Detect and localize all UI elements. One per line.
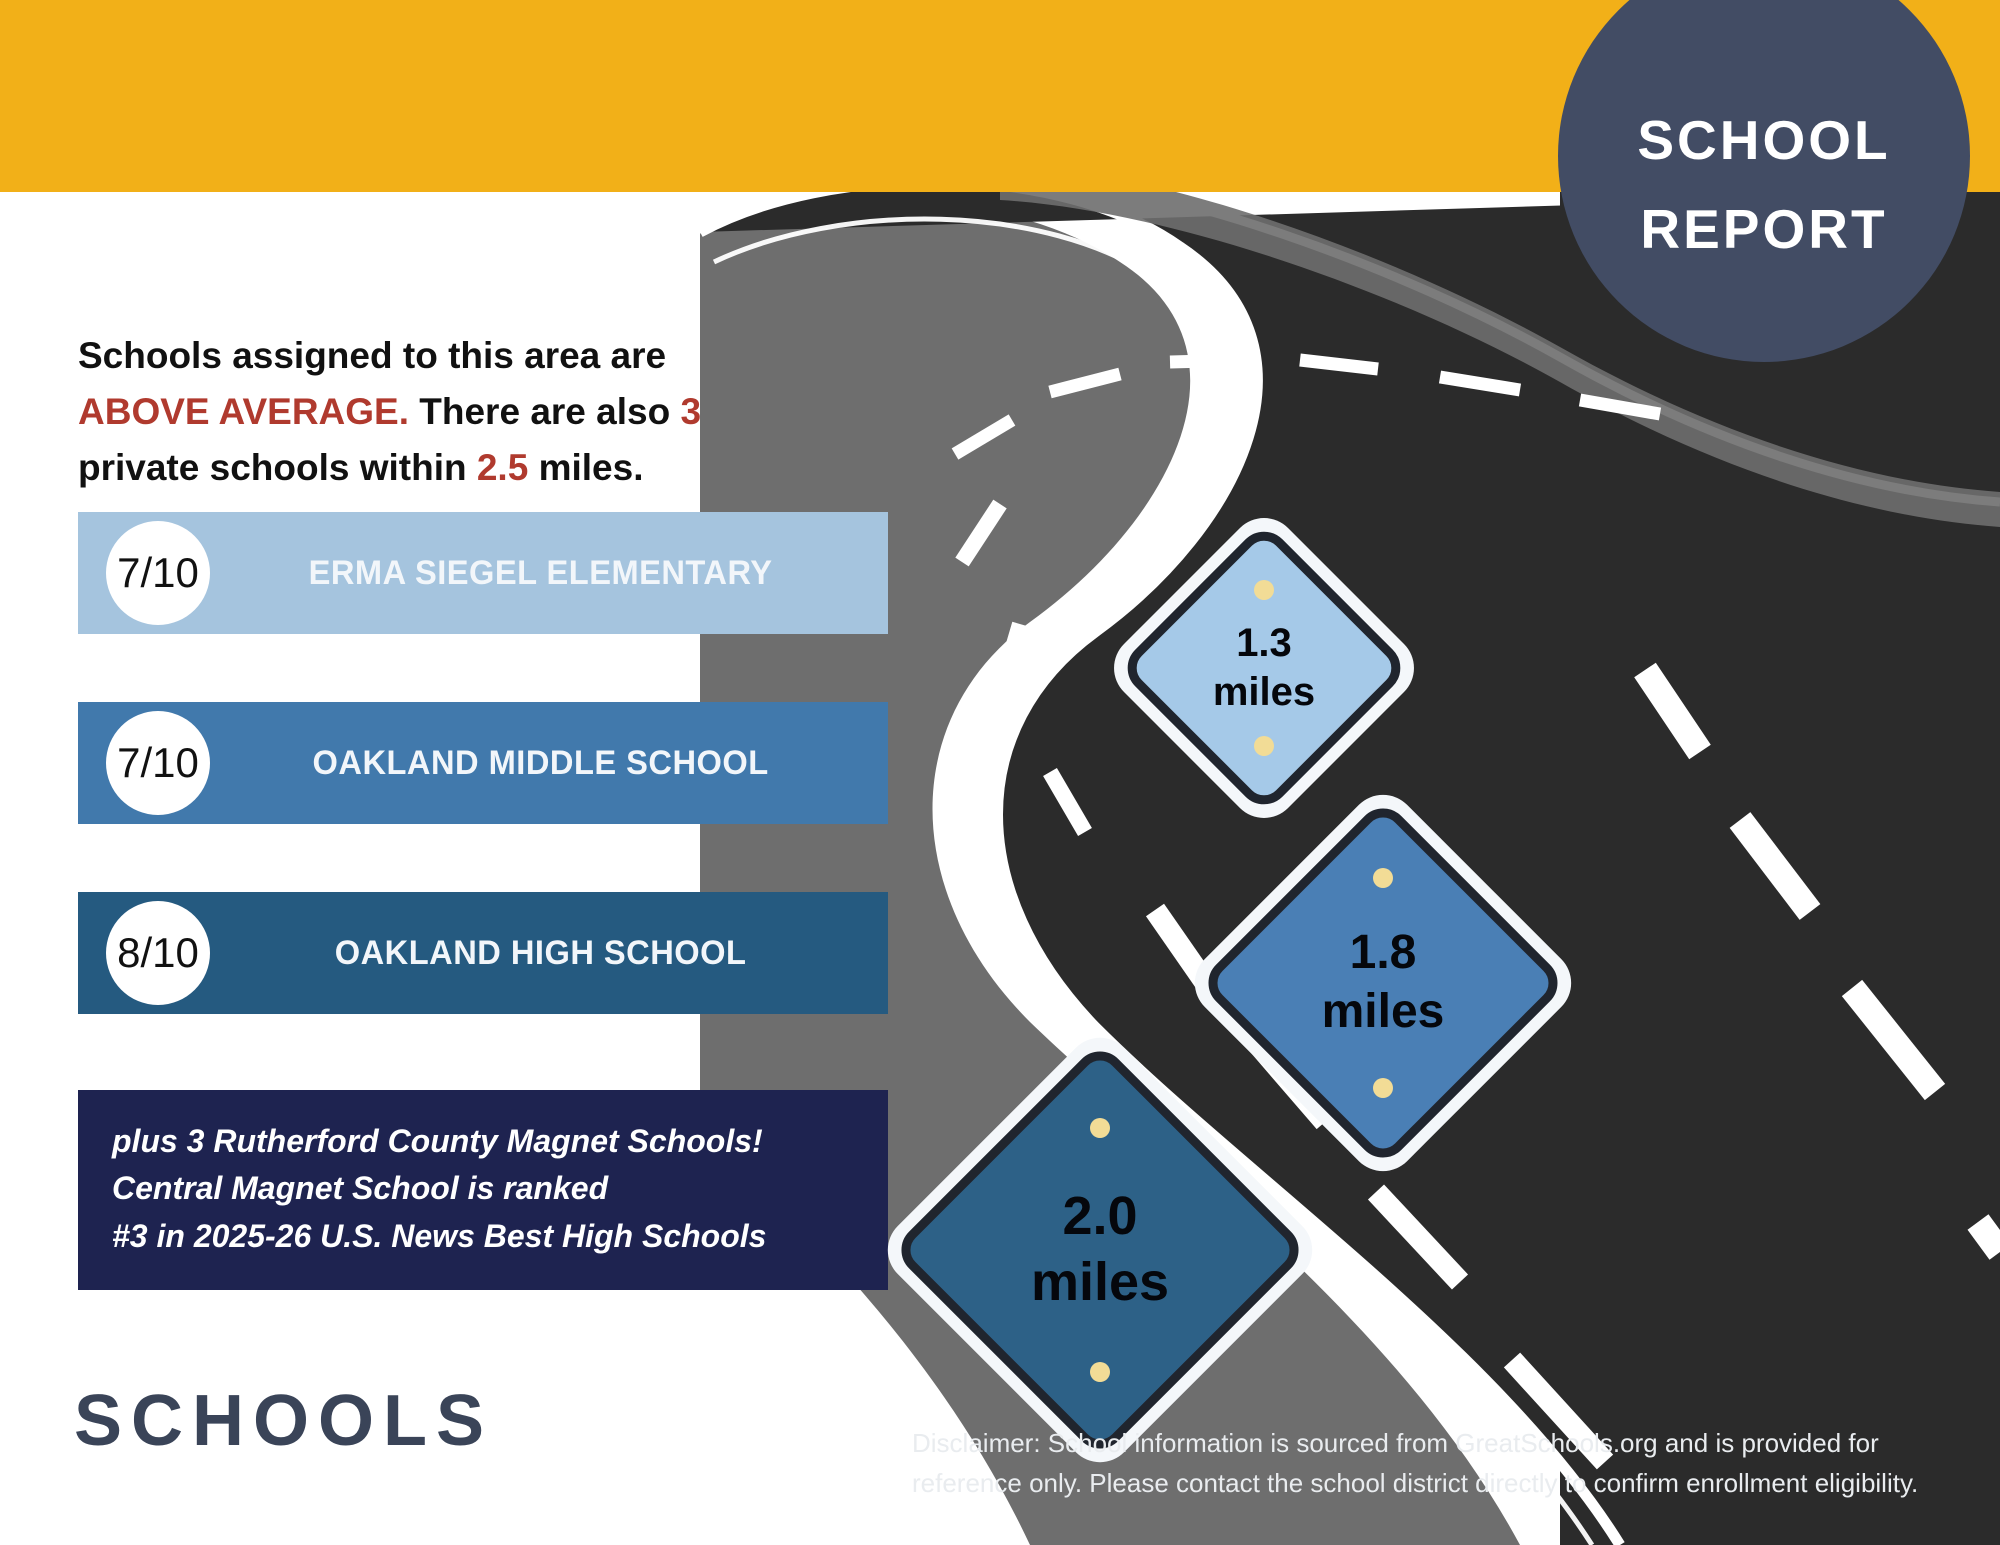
sign-text-block: 1.3 miles <box>1213 619 1315 717</box>
magnet-line-2: Central Magnet School is ranked <box>112 1165 854 1212</box>
distance-sign-3[interactable]: 2.0 miles <box>940 1090 1260 1410</box>
intro-part-4: miles. <box>528 447 643 488</box>
intro-part-2: There are also <box>409 391 680 432</box>
sign-unit: miles <box>1322 983 1445 1042</box>
intro-part-3: private schools within <box>78 447 477 488</box>
intro-paragraph: Schools assigned to this area are ABOVE … <box>78 328 718 497</box>
school-rating-list: 7/10 ERMA SIEGEL ELEMENTARY 7/10 OAKLAND… <box>78 512 888 1082</box>
sign-unit: miles <box>1031 1250 1169 1316</box>
school-bar-elementary[interactable]: 7/10 ERMA SIEGEL ELEMENTARY <box>78 512 888 634</box>
badge-line-1: SCHOOL <box>1637 96 1890 185</box>
section-label-schools: SCHOOLS <box>74 1380 493 1462</box>
sign-bolt-bottom-icon <box>1090 1362 1110 1382</box>
intro-part-1: Schools assigned to this area are <box>78 335 666 376</box>
sign-bolt-bottom-icon <box>1373 1078 1393 1098</box>
school-name-label: ERMA SIEGEL ELEMENTARY <box>94 554 872 593</box>
sign-value: 1.8 <box>1322 924 1445 983</box>
school-bar-high[interactable]: 8/10 OAKLAND HIGH SCHOOL <box>78 892 888 1014</box>
intro-highlight-radius: 2.5 <box>477 447 528 488</box>
sign-value: 1.3 <box>1213 619 1315 668</box>
distance-sign-2[interactable]: 1.8 miles <box>1240 840 1526 1126</box>
sign-text-block: 2.0 miles <box>1031 1184 1169 1316</box>
magnet-line-1: plus 3 Rutherford County Magnet Schools! <box>112 1118 854 1165</box>
sign-unit: miles <box>1213 668 1315 717</box>
infographic-canvas: The Villas at Regal Square SCHOOL REPORT… <box>0 0 2000 1545</box>
disclaimer-line-1: Disclaimer: School information is source… <box>912 1424 1972 1464</box>
sign-value: 2.0 <box>1031 1184 1169 1250</box>
intro-highlight-above-average: ABOVE AVERAGE. <box>78 391 409 432</box>
school-bar-middle[interactable]: 7/10 OAKLAND MIDDLE SCHOOL <box>78 702 888 824</box>
disclaimer-text: Disclaimer: School information is source… <box>912 1424 1972 1503</box>
intro-highlight-private-count: 3 <box>680 391 701 432</box>
magnet-schools-callout: plus 3 Rutherford County Magnet Schools!… <box>78 1090 888 1290</box>
disclaimer-line-2: reference only. Please contact the schoo… <box>912 1464 1972 1504</box>
school-name-label: OAKLAND HIGH SCHOOL <box>94 934 872 973</box>
sign-bolt-top-icon <box>1373 868 1393 888</box>
sign-bolt-top-icon <box>1254 580 1274 600</box>
sign-bolt-top-icon <box>1090 1118 1110 1138</box>
magnet-line-3: #3 in 2025-26 U.S. News Best High School… <box>112 1213 854 1260</box>
sign-text-block: 1.8 miles <box>1322 924 1445 1041</box>
school-name-label: OAKLAND MIDDLE SCHOOL <box>94 744 872 783</box>
badge-line-2: REPORT <box>1640 185 1887 274</box>
sign-bolt-bottom-icon <box>1254 736 1274 756</box>
distance-sign-1[interactable]: 1.3 miles <box>1148 552 1380 784</box>
